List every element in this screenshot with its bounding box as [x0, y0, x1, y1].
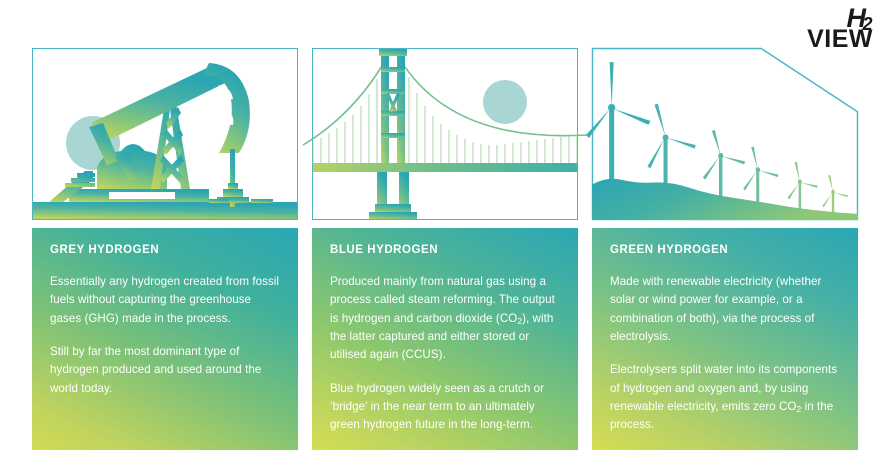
panel-paragraph: Electrolysers split water into its compo…	[610, 361, 840, 434]
h2-view-logo: H2 VIEW	[807, 6, 873, 51]
panel-title-grey: GREY HYDROGEN	[50, 244, 280, 256]
column-blue-hydrogen: BLUE HYDROGEN Produced mainly from natur…	[312, 48, 578, 450]
sun-shape	[483, 80, 527, 124]
panel-title-green: GREEN HYDROGEN	[610, 244, 840, 256]
illustration-oil-pumpjack	[32, 48, 298, 220]
panel-paragraph: Produced mainly from natural gas using a…	[330, 273, 560, 365]
deck-slot	[109, 192, 175, 199]
column-green-hydrogen: GREEN HYDROGEN Made with renewable elect…	[592, 48, 858, 450]
illustration-wind-turbines	[592, 48, 858, 220]
column-grey-hydrogen: GREY HYDROGEN Essentially any hydrogen c…	[32, 48, 298, 450]
panel-title-blue: BLUE HYDROGEN	[330, 244, 560, 256]
illustration-suspension-bridge	[312, 48, 578, 220]
bridge-shape	[303, 49, 587, 219]
panel-paragraph: Blue hydrogen widely seen as a crutch or…	[330, 380, 560, 435]
hydrogen-types-infographic: GREY HYDROGEN Essentially any hydrogen c…	[32, 48, 860, 450]
panel-grey-hydrogen: GREY HYDROGEN Essentially any hydrogen c…	[32, 228, 298, 450]
panel-paragraph: Essentially any hydrogen created from fo…	[50, 273, 280, 328]
panel-blue-hydrogen: BLUE HYDROGEN Produced mainly from natur…	[312, 228, 578, 450]
panel-green-hydrogen: GREEN HYDROGEN Made with renewable elect…	[592, 228, 858, 450]
panel-paragraph: Still by far the most dominant type of h…	[50, 343, 280, 398]
panel-paragraph: Made with renewable electricity (whether…	[610, 273, 840, 346]
